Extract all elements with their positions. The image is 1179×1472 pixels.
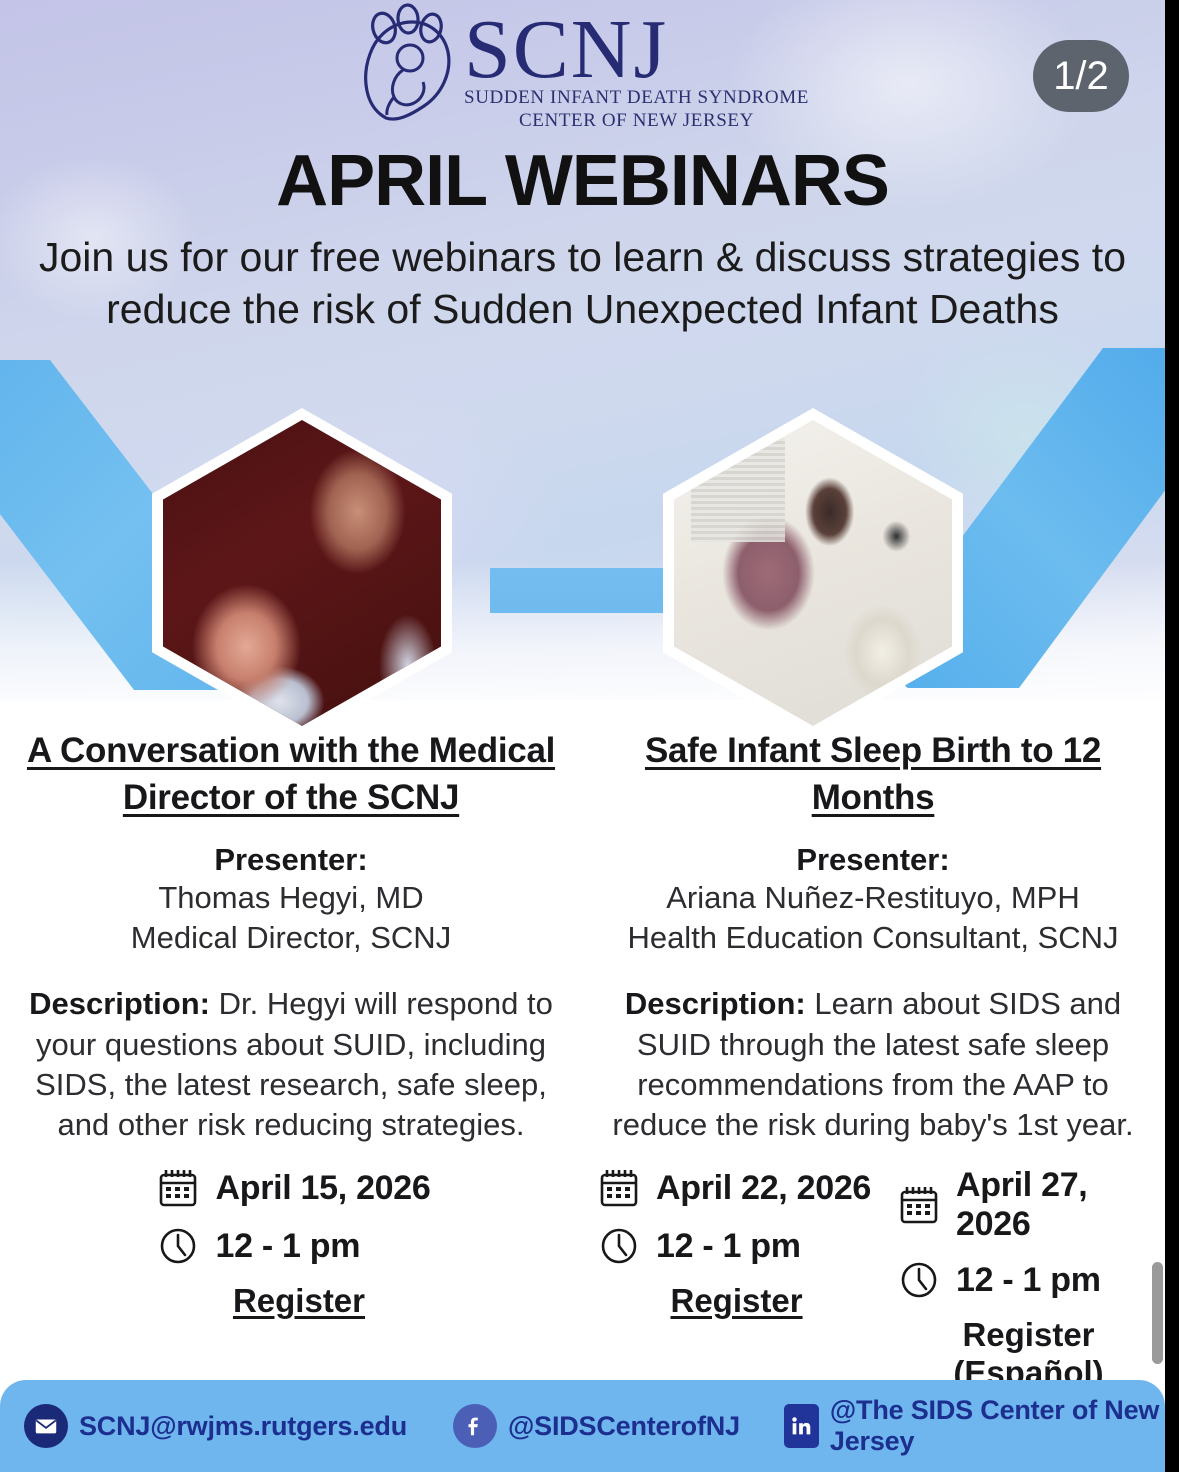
hex-frame: [152, 408, 452, 738]
session-3: April 27, 2026 12 - 1 pm Register (Españ…: [892, 1166, 1165, 1392]
webinar-photo-1: [152, 408, 452, 738]
webinar-1-presenter-label: Presenter:: [22, 842, 560, 878]
webinar-1-presenter-name: Thomas Hegyi, MD: [22, 878, 560, 918]
session-1-time-row: 12 - 1 pm: [151, 1224, 430, 1268]
session-2-date: April 22, 2026: [646, 1169, 871, 1208]
footer-email-text: SCNJ@rwjms.rutgers.edu: [79, 1411, 407, 1442]
logo-subtitle-line1: SUDDEN INFANT DEATH SYNDROME: [464, 87, 809, 109]
webinar-2-presenter-name: Ariana Nuñez-Restituyo, MPH: [604, 878, 1142, 918]
footprint-baby-logo-icon: [356, 2, 460, 122]
webinar-photo-2: [663, 408, 963, 738]
footer-email-item[interactable]: SCNJ@rwjms.rutgers.edu: [24, 1404, 407, 1448]
session-2-date-row: April 22, 2026: [592, 1166, 871, 1210]
session-3-time-row: 12 - 1 pm: [892, 1258, 1165, 1302]
session-2-register-label: Register: [670, 1282, 802, 1319]
webinar-1-description-label: Description:: [29, 986, 210, 1021]
hex-frame: [663, 408, 963, 738]
session-3-time: 12 - 1 pm: [946, 1261, 1101, 1300]
decorative-connector-band: [490, 568, 680, 613]
webinar-card-1: A Conversation with the Medical Director…: [0, 728, 582, 1146]
calendar-icon: [892, 1183, 946, 1227]
session-schedule: April 15, 2026 12 - 1 pm Register: [0, 1166, 1165, 1392]
mother-with-baby-in-bassinet-photo: [674, 420, 952, 726]
footer-facebook-item[interactable]: @SIDSCenterofNJ: [453, 1404, 740, 1448]
footer-facebook-text: @SIDSCenterofNJ: [508, 1411, 740, 1442]
session-1-register-link[interactable]: Register: [151, 1282, 430, 1320]
mail-icon: [24, 1404, 68, 1448]
page-indicator: 1/2: [1033, 40, 1129, 112]
clock-icon: [151, 1224, 205, 1268]
scrollbar-thumb[interactable]: [1152, 1262, 1163, 1364]
calendar-icon: [151, 1166, 205, 1210]
phone-screen: SCNJ SUDDEN INFANT DEATH SYNDROME CENTER…: [0, 0, 1179, 1472]
session-2-time-row: 12 - 1 pm: [592, 1224, 871, 1268]
session-2-time: 12 - 1 pm: [646, 1227, 801, 1266]
webinar-2-description-label: Description:: [625, 986, 806, 1021]
webinar-2-presenter-label: Presenter:: [604, 842, 1142, 878]
session-1-register-label: Register: [233, 1282, 365, 1319]
webinar-1-title[interactable]: A Conversation with the Medical Director…: [22, 728, 560, 822]
logo-subtitle-line2: CENTER OF NEW JERSEY: [464, 110, 809, 132]
webinar-2-title[interactable]: Safe Infant Sleep Birth to 12 Months: [604, 728, 1142, 822]
facebook-icon: [453, 1404, 497, 1448]
clock-icon: [892, 1258, 946, 1302]
scnj-logo: SCNJ SUDDEN INFANT DEATH SYNDROME CENTER…: [0, 2, 1165, 132]
logo-wordmark: SCNJ SUDDEN INFANT DEATH SYNDROME CENTER…: [464, 2, 809, 132]
session-3-date-row: April 27, 2026: [892, 1166, 1165, 1244]
webinar-2-description: Description: Learn about SIDS and SUID t…: [604, 984, 1142, 1145]
footer-linkedin-item[interactable]: @The SIDS Center of New Jersey: [784, 1395, 1165, 1457]
webinar-1-description: Description: Dr. Hegyi will respond to y…: [22, 984, 560, 1145]
session-3-date: April 27, 2026: [946, 1166, 1165, 1244]
page-title: APRIL WEBINARS: [0, 140, 1165, 222]
webinar-flyer: SCNJ SUDDEN INFANT DEATH SYNDROME CENTER…: [0, 0, 1165, 1472]
webinar-2-presenter-role: Health Education Consultant, SCNJ: [604, 918, 1142, 958]
session-1-time: 12 - 1 pm: [205, 1227, 360, 1266]
doctor-holding-infant-photo: [163, 420, 441, 726]
session-1-date-row: April 15, 2026: [151, 1166, 430, 1210]
calendar-icon: [592, 1166, 646, 1210]
clock-icon: [592, 1224, 646, 1268]
page-subtitle: Join us for our free webinars to learn &…: [0, 232, 1165, 335]
footer-linkedin-text: @The SIDS Center of New Jersey: [830, 1395, 1165, 1457]
webinar-columns: A Conversation with the Medical Director…: [0, 728, 1165, 1146]
session-1-date: April 15, 2026: [205, 1169, 430, 1208]
linkedin-icon: [784, 1404, 819, 1448]
webinar-1-presenter-role: Medical Director, SCNJ: [22, 918, 560, 958]
session-2: April 22, 2026 12 - 1 pm Register: [582, 1166, 892, 1392]
session-2-register-link[interactable]: Register: [592, 1282, 871, 1320]
scrollbar-track[interactable]: [1153, 0, 1165, 1472]
webinar-card-2: Safe Infant Sleep Birth to 12 Months Pre…: [582, 728, 1164, 1146]
screen-right-edge: [1165, 0, 1179, 1472]
logo-acronym: SCNJ: [464, 10, 809, 91]
contact-footer: SCNJ@rwjms.rutgers.edu @SIDSCenterofNJ: [0, 1380, 1165, 1472]
session-1: April 15, 2026 12 - 1 pm Register: [0, 1166, 582, 1392]
